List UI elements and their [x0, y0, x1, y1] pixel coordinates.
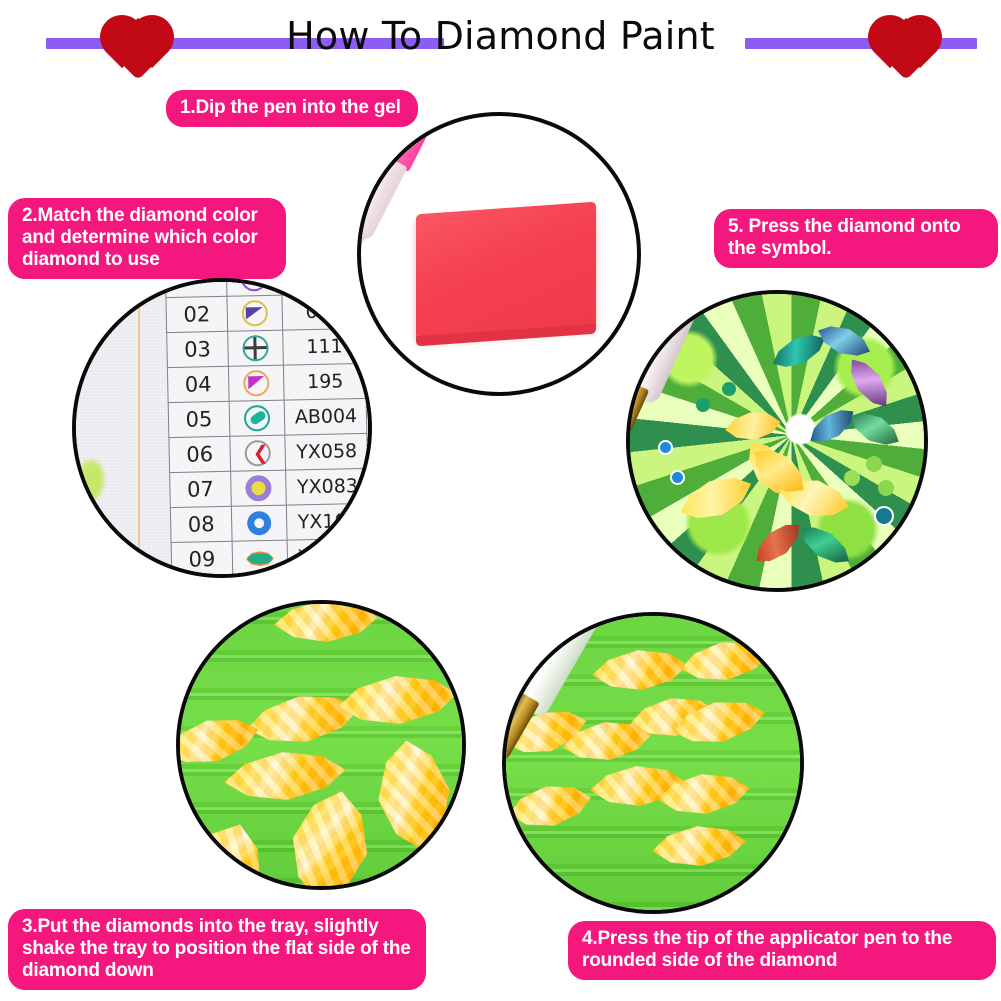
step-3-photo	[176, 600, 466, 890]
table-row: 05 AB004	[168, 398, 367, 437]
table-row: 08 YX106	[170, 503, 369, 542]
triangle-symbol	[228, 365, 284, 401]
step-2-photo: 028 02 093 03 111 04	[72, 278, 372, 578]
chart-code: YX083	[286, 468, 369, 505]
plus-symbol	[228, 330, 284, 366]
chart-number: 06	[169, 436, 231, 472]
double-dot-symbol	[226, 278, 282, 296]
page-header: How To Diamond Paint	[0, 0, 1001, 82]
table-row: 03 111	[167, 328, 366, 367]
table-row: 07 YX083	[170, 468, 369, 507]
step-4-label: 4.Press the tip of the applicator pen to…	[568, 921, 996, 980]
chart-number: 09	[171, 541, 233, 577]
chevron-left-symbol: ❮	[230, 435, 286, 471]
step-5-photo	[626, 290, 928, 592]
chart-number: 07	[170, 471, 232, 507]
chart-number: 03	[167, 331, 229, 367]
chart-number: 08	[170, 506, 232, 542]
color-chart-table: 028 02 093 03 111 04	[165, 278, 371, 578]
chart-code: AB004	[284, 398, 367, 435]
dot-in-ring-symbol	[231, 470, 287, 506]
pill-symbol	[229, 400, 285, 436]
chart-code: 111	[283, 328, 366, 365]
leaf-symbol	[232, 540, 288, 576]
gel-pad	[416, 202, 596, 340]
chart-number: 04	[167, 366, 229, 402]
chart-code: 195	[283, 363, 366, 400]
chart-code: YX058	[285, 433, 368, 470]
table-row: 02 093	[166, 293, 365, 332]
chart-code: YX106	[286, 503, 369, 540]
page-title: How To Diamond Paint	[0, 14, 1001, 58]
triangle-symbol	[227, 295, 283, 331]
chart-code: 093	[282, 293, 365, 330]
chart-code: YX125	[287, 538, 370, 575]
chart-number: 05	[168, 401, 230, 437]
step-5-label: 5. Press the diamond onto the symbol.	[714, 209, 998, 268]
step-1-photo	[357, 112, 641, 396]
step-3-label: 3.Put the diamonds into the tray, slight…	[8, 909, 426, 990]
ring-symbol	[231, 505, 287, 541]
chart-code: 028	[281, 278, 364, 295]
step-2-label: 2.Match the diamond color and determine …	[8, 198, 286, 279]
chart-number	[165, 278, 227, 298]
table-row: 04 195	[167, 363, 366, 402]
chart-number: 02	[166, 296, 228, 332]
step-4-photo	[502, 612, 804, 914]
table-row: 06 ❮ YX058	[169, 433, 368, 472]
table-row: 09 YX125	[171, 538, 370, 577]
